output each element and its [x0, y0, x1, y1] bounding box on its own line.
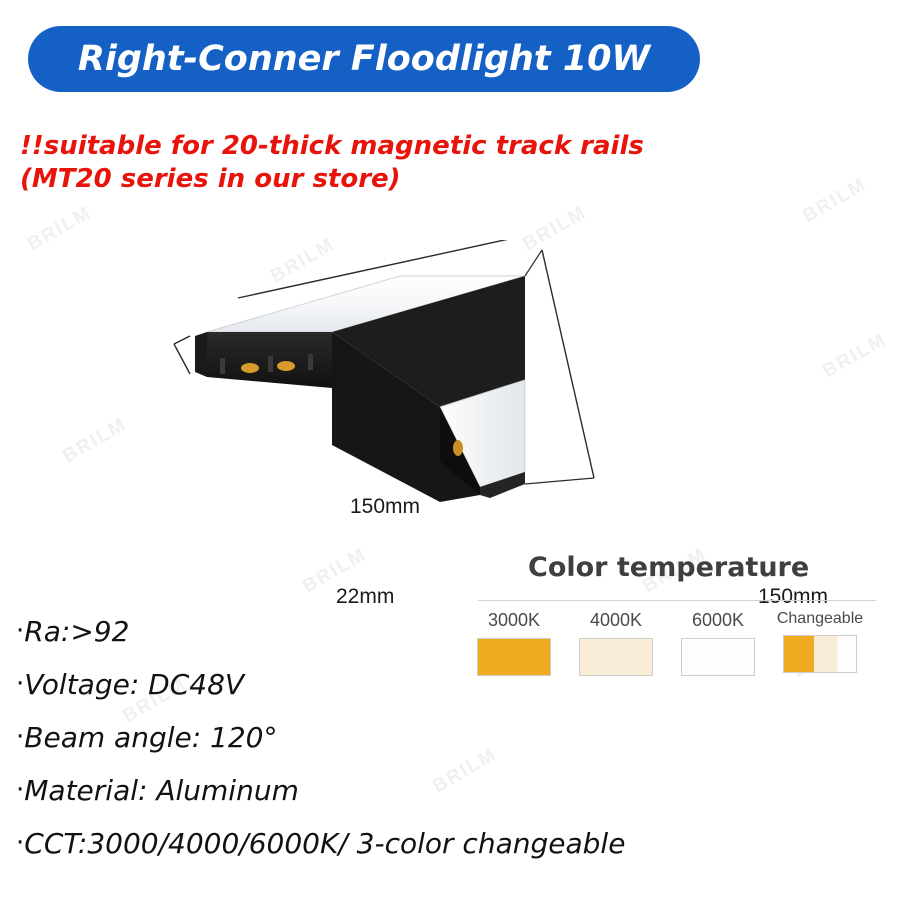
spec-text-material: Material: Aluminum	[24, 774, 299, 807]
watermark-text: BRILM	[819, 329, 891, 383]
spec-text-cct: CCT:3000/4000/6000K/ 3-color changeable	[24, 827, 625, 860]
color-temperature-block: Color temperature 3000K 4000K 6000K Chan…	[470, 552, 880, 583]
watermark-text: BRILM	[24, 202, 96, 256]
compatibility-note: !!suitable for 20-thick magnetic track r…	[20, 130, 720, 196]
specification-list: ·Ra:>92 ·Voltage: DC48V ·Beam angle: 120…	[16, 605, 896, 870]
spec-item-ra: ·Ra:>92	[16, 605, 896, 658]
spec-text-ra: Ra:>92	[24, 615, 129, 648]
product-title-banner: Right-Conner Floodlight 10W	[28, 26, 700, 92]
watermark-text: BRILM	[799, 174, 871, 228]
watermark-text: BRILM	[59, 414, 131, 468]
dimension-label-top: 150mm	[350, 495, 420, 519]
color-temperature-title: Color temperature	[528, 552, 880, 583]
spec-item-cct: ·CCT:3000/4000/6000K/ 3-color changeable	[16, 817, 896, 870]
color-temperature-divider	[478, 600, 876, 601]
spec-item-beam-angle: ·Beam angle: 120°	[16, 711, 896, 764]
note-line-1: !!suitable for 20-thick magnetic track r…	[20, 130, 720, 163]
note-line-2: (MT20 series in our store)	[20, 163, 720, 196]
spec-text-beam-angle: Beam angle: 120°	[24, 721, 277, 754]
spec-item-material: ·Material: Aluminum	[16, 764, 896, 817]
product-illustration: 150mm 22mm 150mm	[150, 240, 710, 530]
spec-text-voltage: Voltage: DC48V	[24, 668, 244, 701]
page-title: Right-Conner Floodlight 10W	[78, 39, 650, 79]
spec-item-voltage: ·Voltage: DC48V	[16, 658, 896, 711]
